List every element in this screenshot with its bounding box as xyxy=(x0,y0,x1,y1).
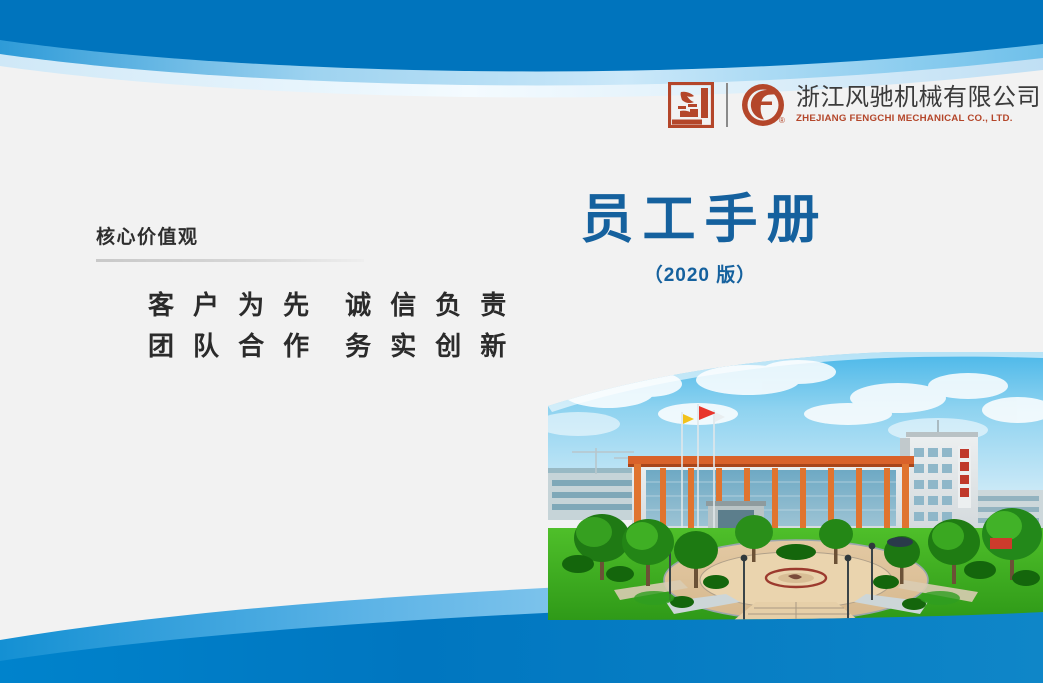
core-values-line-2: 团 队 合 作 务 实 创 新 xyxy=(148,327,416,368)
square-seal-logo-icon xyxy=(668,82,714,128)
title-block: 员工手册 （2020 版） xyxy=(560,192,840,287)
company-name-block: 浙江风驰机械有限公司 ZHEJIANG FENGCHI MECHANICAL C… xyxy=(796,85,1041,124)
core-values-list: 客 户 为 先 诚 信 负 责 团 队 合 作 务 实 创 新 xyxy=(96,286,416,368)
company-name-en: ZHEJIANG FENGCHI MECHANICAL CO., LTD. xyxy=(796,113,1043,124)
document-edition: （2020 版） xyxy=(560,260,840,287)
core-values-block: 核心价值观 客 户 为 先 诚 信 负 责 团 队 合 作 务 实 创 新 xyxy=(96,222,416,368)
cover-page: ® 浙江风驰机械有限公司 ZHEJIANG FENGCHI MECHANICAL… xyxy=(0,0,1043,683)
svg-text:®: ® xyxy=(779,116,785,125)
company-campus-photo xyxy=(548,352,1043,620)
document-title: 员工手册 xyxy=(560,192,840,248)
top-light-band xyxy=(0,0,1043,85)
campus-photo-illustration xyxy=(548,352,1043,620)
top-dark-band xyxy=(0,0,1043,71)
core-values-divider xyxy=(96,259,364,262)
core-values-line-1: 客 户 为 先 诚 信 负 责 xyxy=(148,286,416,327)
logo-divider xyxy=(726,83,728,127)
core-values-heading: 核心价值观 xyxy=(96,222,416,249)
company-logo-lockup: ® 浙江风驰机械有限公司 ZHEJIANG FENGCHI MECHANICAL… xyxy=(668,76,1041,134)
company-name-cn: 浙江风驰机械有限公司 xyxy=(796,85,1041,111)
circled-f-logo-icon: ® xyxy=(740,82,786,128)
